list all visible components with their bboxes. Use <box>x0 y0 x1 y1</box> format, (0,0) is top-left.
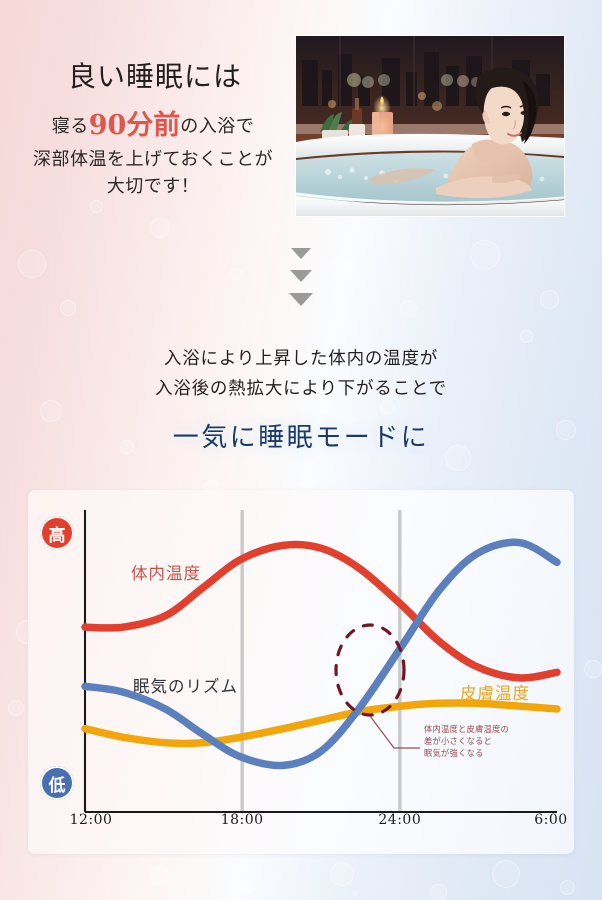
series-label-sleepiness-rhythm: 眠気のリズム <box>133 673 238 697</box>
hero-emphasis-90min: 90分前 <box>89 110 181 141</box>
hero-section: 良い睡眠には 寝る90分前の入浴で 深部体温を上げておくことが 大切です！ <box>0 0 602 240</box>
temperature-rhythm-chart-card: 高 低 体内温度 眠気のリズム 皮膚温度 体内温度と皮膚温度の 差が小さくなると… <box>28 490 574 854</box>
page-title: 良い睡眠には <box>16 55 294 95</box>
hero-sub-pre: 寝る <box>52 116 89 137</box>
x-tick-label: 12:00 <box>70 812 113 828</box>
sleep-mode-accent-text: 一気に睡眠モードに <box>0 416 602 461</box>
annotation-leader-line <box>370 716 420 748</box>
x-tick-label: 24:00 <box>378 812 421 828</box>
annotation-line-3: 眠気が強くなる <box>424 748 483 758</box>
chevron-down-icon <box>290 270 312 282</box>
hero-subtitle: 寝る90分前の入浴で 深部体温を上げておくことが 大切です！ <box>8 105 298 201</box>
explanation-block: 入浴により上昇した体内の温度が 入浴後の熱拡大により下がることで 一気に睡眠モー… <box>0 344 602 461</box>
annotation-line-1: 体内温度と皮膚温度の <box>424 724 509 734</box>
explanation-line-1: 入浴により上昇した体内の温度が <box>164 349 438 369</box>
series-label-core-temperature: 体内温度 <box>131 560 201 584</box>
annotation-line-2: 差が小さくなると <box>424 736 492 746</box>
crossover-highlight-ellipse <box>336 625 404 715</box>
hero-sub-line2: 深部体温を上げておくことが <box>33 149 273 170</box>
down-arrow-group <box>0 244 602 320</box>
infographic-page: 良い睡眠には 寝る90分前の入浴で 深部体温を上げておくことが 大切です！ 入浴… <box>0 0 602 900</box>
hero-sub-line3: 大切です！ <box>107 176 200 197</box>
hero-sub-post: の入浴で <box>180 116 254 137</box>
chart-annotation: 体内温度と皮膚温度の 差が小さくなると 眠気が強くなる <box>424 724 542 759</box>
series-label-skin-temperature: 皮膚温度 <box>460 680 530 704</box>
x-tick-label: 18:00 <box>221 812 264 828</box>
chart-plot-area <box>28 490 574 854</box>
chevron-down-icon <box>289 293 313 306</box>
x-axis-labels: 12:0018:0024:006:00 <box>28 812 574 842</box>
explanation-line-2: 入浴後の熱拡大により下がることで <box>155 379 447 399</box>
chevron-down-icon <box>291 248 311 259</box>
bathtub-photo <box>296 36 564 216</box>
x-tick-label: 6:00 <box>534 812 567 828</box>
